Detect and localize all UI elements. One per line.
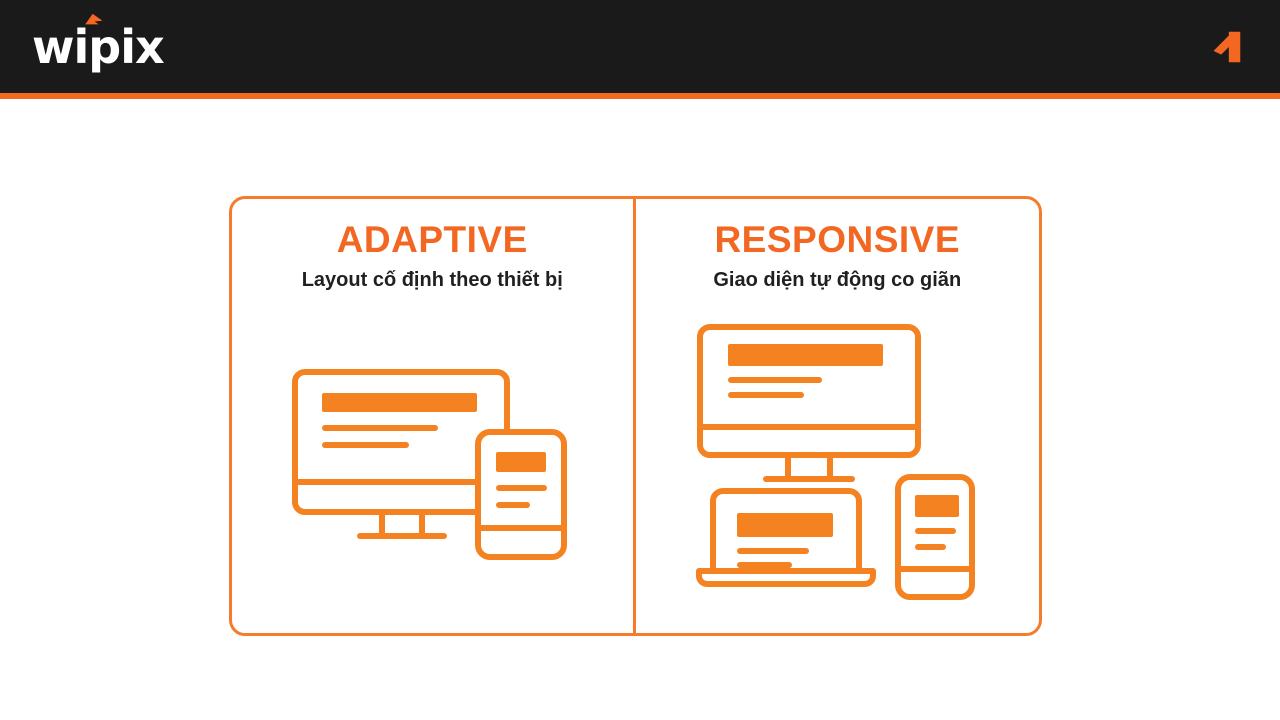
responsive-monitor-lines: [731, 380, 819, 395]
responsive-phone-lines: [918, 531, 953, 547]
top-header-bar: wipix: [0, 0, 1280, 93]
panel-adaptive: ADAPTIVE Layout cố định theo thiết bị: [232, 199, 636, 633]
brand-logo[interactable]: wipix: [32, 20, 164, 74]
arrow-up-right-icon[interactable]: [1204, 26, 1246, 68]
arrow-flag-icon: [84, 14, 102, 32]
laptop-content-lines: [740, 551, 806, 565]
panel-responsive: RESPONSIVE Giao diện tự động co giãn: [636, 199, 1040, 633]
comparison-card: ADAPTIVE Layout cố định theo thiết bị: [229, 196, 1042, 636]
panel-adaptive-title: ADAPTIVE: [232, 221, 633, 260]
panel-adaptive-subtitle: Layout cố định theo thiết bị: [232, 268, 633, 292]
header-accent-stripe: [0, 93, 1280, 99]
panel-responsive-title: RESPONSIVE: [636, 221, 1040, 260]
monitor-content-header-bar: [322, 393, 477, 412]
monitor-laptop-phone-icon: [689, 317, 985, 607]
panel-responsive-illustration: [636, 303, 1040, 621]
phone-content-header-bar: [496, 452, 546, 472]
responsive-monitor-header-bar: [728, 344, 883, 366]
phone-backing: [478, 432, 564, 557]
monitor-content-lines: [325, 428, 435, 445]
panel-adaptive-illustration: [232, 303, 633, 621]
responsive-phone-header-bar: [915, 495, 959, 517]
panel-adaptive-heading: ADAPTIVE Layout cố định theo thiết bị: [232, 199, 633, 292]
laptop-outline: [699, 491, 873, 584]
laptop-header-bar: [737, 513, 833, 537]
desktop-monitor-with-phone-icon: [282, 360, 582, 565]
panel-responsive-subtitle: Giao diện tự động co giãn: [636, 268, 1040, 292]
panel-responsive-heading: RESPONSIVE Giao diện tự động co giãn: [636, 199, 1040, 292]
